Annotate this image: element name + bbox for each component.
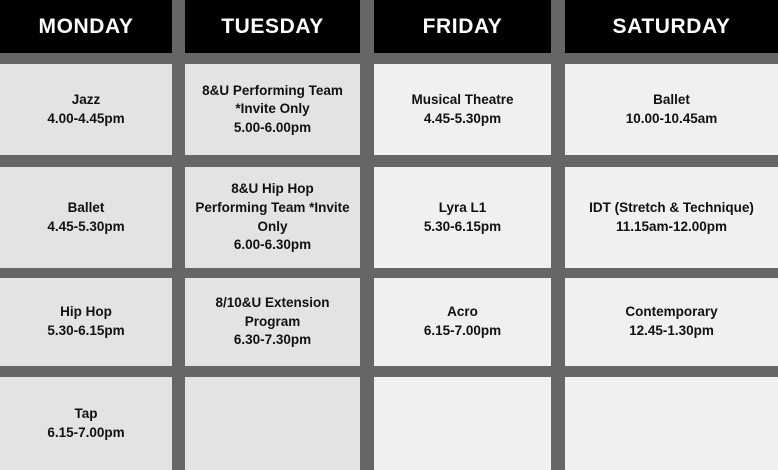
day-header-tuesday: TUESDAY (185, 0, 360, 53)
class-title: IDT (Stretch & Technique) (575, 199, 768, 218)
class-cell-tuesday-2[interactable]: 8&U Hip Hop Performing Team *Invite Only… (185, 167, 360, 268)
class-time: 4.00-4.45pm (10, 110, 162, 129)
class-title: Ballet (575, 91, 768, 110)
class-title: 8/10&U Extension Program (195, 294, 350, 331)
class-cell-friday-2[interactable]: Lyra L1 5.30-6.15pm (374, 167, 551, 268)
class-cell-monday-2[interactable]: Ballet 4.45-5.30pm (0, 167, 172, 268)
class-cell-saturday-4[interactable] (565, 377, 778, 470)
class-time: 11.15am-12.00pm (575, 218, 768, 237)
class-title: Lyra L1 (384, 199, 541, 218)
class-cell-saturday-1[interactable]: Ballet 10.00-10.45am (565, 64, 778, 155)
class-title: 8&U Hip Hop Performing Team *Invite Only (195, 180, 350, 236)
class-time: 10.00-10.45am (575, 110, 768, 129)
class-title: Acro (384, 303, 541, 322)
day-header-friday: FRIDAY (374, 0, 551, 53)
class-title: Jazz (10, 91, 162, 110)
class-title: Ballet (10, 199, 162, 218)
class-time: 6.15-7.00pm (384, 322, 541, 341)
class-cell-friday-4[interactable] (374, 377, 551, 470)
class-title: Musical Theatre (384, 91, 541, 110)
class-cell-tuesday-4[interactable] (185, 377, 360, 470)
class-cell-saturday-2[interactable]: IDT (Stretch & Technique) 11.15am-12.00p… (565, 167, 778, 268)
day-header-friday-label: FRIDAY (423, 15, 503, 39)
class-time: 5.30-6.15pm (10, 322, 162, 341)
class-cell-monday-3[interactable]: Hip Hop 5.30-6.15pm (0, 278, 172, 366)
class-time: 5.00-6.00pm (195, 119, 350, 138)
class-time: 4.45-5.30pm (10, 218, 162, 237)
class-cell-friday-3[interactable]: Acro 6.15-7.00pm (374, 278, 551, 366)
day-header-saturday-label: SATURDAY (613, 15, 731, 39)
class-timetable: MONDAY TUESDAY FRIDAY SATURDAY Jazz 4.00… (0, 0, 778, 470)
class-cell-friday-1[interactable]: Musical Theatre 4.45-5.30pm (374, 64, 551, 155)
class-time: 12.45-1.30pm (575, 322, 768, 341)
class-time: 6.30-7.30pm (195, 331, 350, 350)
class-cell-monday-1[interactable]: Jazz 4.00-4.45pm (0, 64, 172, 155)
day-header-monday-label: MONDAY (38, 15, 133, 39)
class-time: 5.30-6.15pm (384, 218, 541, 237)
class-cell-saturday-3[interactable]: Contemporary 12.45-1.30pm (565, 278, 778, 366)
class-time: 6.00-6.30pm (195, 236, 350, 255)
class-cell-monday-4[interactable]: Tap 6.15-7.00pm (0, 377, 172, 470)
class-time: 6.15-7.00pm (10, 424, 162, 443)
class-title: Tap (10, 405, 162, 424)
class-time: 4.45-5.30pm (384, 110, 541, 129)
class-title: Contemporary (575, 303, 768, 322)
class-title: 8&U Performing Team *Invite Only (195, 82, 350, 119)
class-cell-tuesday-3[interactable]: 8/10&U Extension Program 6.30-7.30pm (185, 278, 360, 366)
day-header-saturday: SATURDAY (565, 0, 778, 53)
class-title: Hip Hop (10, 303, 162, 322)
day-header-tuesday-label: TUESDAY (221, 15, 324, 39)
day-header-monday: MONDAY (0, 0, 172, 53)
class-cell-tuesday-1[interactable]: 8&U Performing Team *Invite Only 5.00-6.… (185, 64, 360, 155)
